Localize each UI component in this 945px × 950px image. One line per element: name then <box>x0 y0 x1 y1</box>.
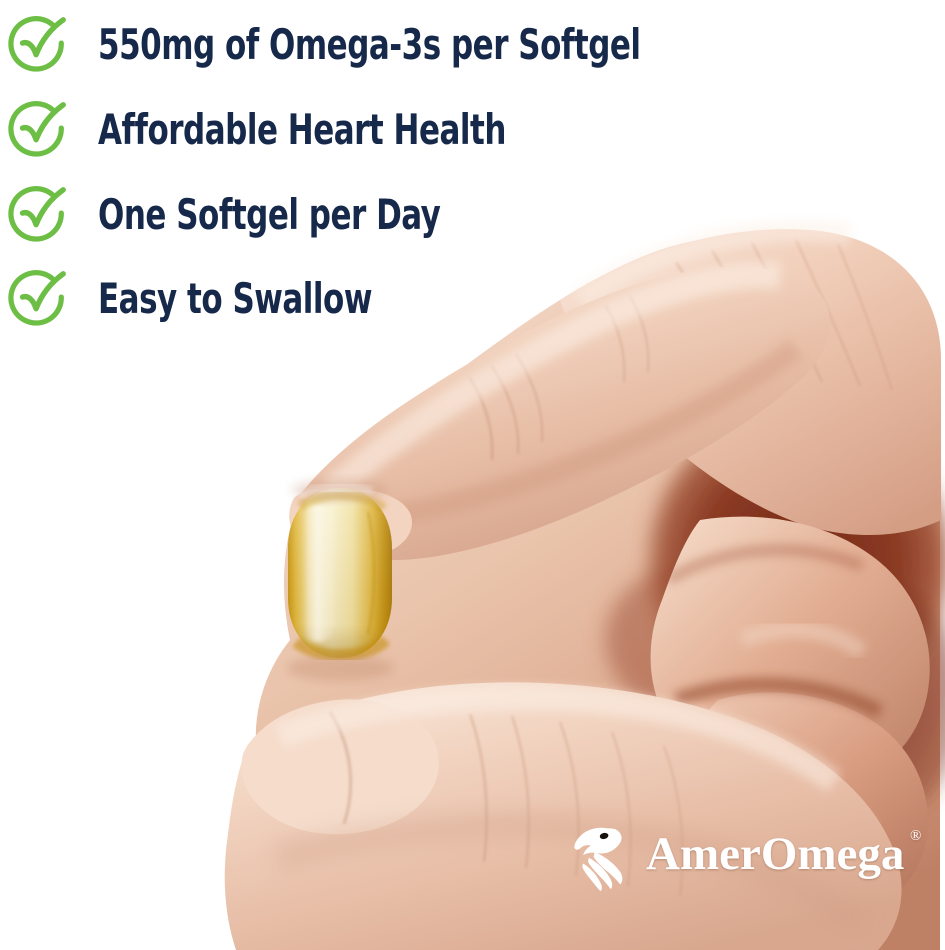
green-check-circle-icon <box>8 99 70 161</box>
benefit-label: Easy to Swallow <box>98 278 372 320</box>
brand-logo: AmerOmega ® <box>568 816 904 892</box>
brand-name: AmerOmega <box>646 828 904 880</box>
benefit-label: One Softgel per Day <box>98 194 440 236</box>
benefit-label: Affordable Heart Health <box>98 109 506 151</box>
omega-3-softgel-capsule <box>288 488 392 658</box>
benefit-item: Affordable Heart Health <box>0 99 595 161</box>
registered-trademark-symbol: ® <box>910 829 921 844</box>
brand-wordmark: AmerOmega ® <box>646 831 904 878</box>
green-check-circle-icon <box>8 268 70 330</box>
benefit-item: 550mg of Omega-3s per Softgel <box>0 14 760 76</box>
green-check-circle-icon <box>8 184 70 246</box>
benefit-item: Easy to Swallow <box>0 268 432 330</box>
eagle-head-icon <box>568 816 644 892</box>
green-check-circle-icon <box>8 14 70 76</box>
benefit-item: One Softgel per Day <box>0 184 516 246</box>
benefit-label: 550mg of Omega-3s per Softgel <box>98 24 641 66</box>
product-image-canvas: 550mg of Omega-3s per Softgel Affordable… <box>0 0 945 950</box>
